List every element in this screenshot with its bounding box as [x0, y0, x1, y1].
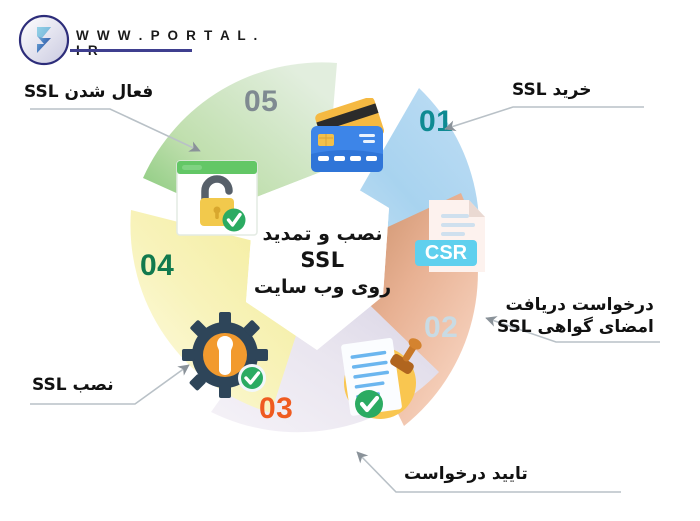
credit-card-icon: [305, 98, 400, 187]
infographic-canvas: W W W . P O R T A L . I R: [0, 0, 700, 521]
site-url-text: W W W . P O R T A L . I R: [76, 28, 260, 58]
callout-label-02: درخواست دریافت امضای گواهی SSL: [497, 295, 654, 339]
segment-number-04: 04: [140, 249, 174, 283]
callout-label-01: خرید SSL: [512, 80, 592, 102]
csr-document-icon: CSR: [413, 196, 493, 282]
callout-label-03: تایید درخواست: [404, 464, 528, 486]
segment-number-05: 05: [244, 85, 278, 119]
logo-underline: [70, 49, 192, 52]
csr-icon-label: CSR: [425, 242, 468, 264]
center-line-3: روی وب سایت: [240, 275, 405, 300]
callout-label-02-line2: امضای گواهی SSL: [497, 317, 654, 339]
center-line-1: نصب و تمدید: [240, 222, 405, 247]
chart-center-title: نصب و تمدید SSL روی وب سایت: [240, 222, 405, 300]
center-line-2: SSL: [240, 247, 405, 275]
callout-label-04: نصب SSL: [32, 375, 114, 397]
callout-label-02-line1: درخواست دریافت: [497, 295, 654, 317]
stamp-approval-icon: [330, 328, 430, 432]
segment-number-01: 01: [419, 105, 453, 139]
browser-padlock-icon: [176, 160, 258, 240]
gear-wrench-icon: [182, 312, 274, 406]
portal-arrow-logo-icon: [18, 14, 70, 66]
callout-label-05: فعال شدن SSL: [24, 82, 153, 104]
